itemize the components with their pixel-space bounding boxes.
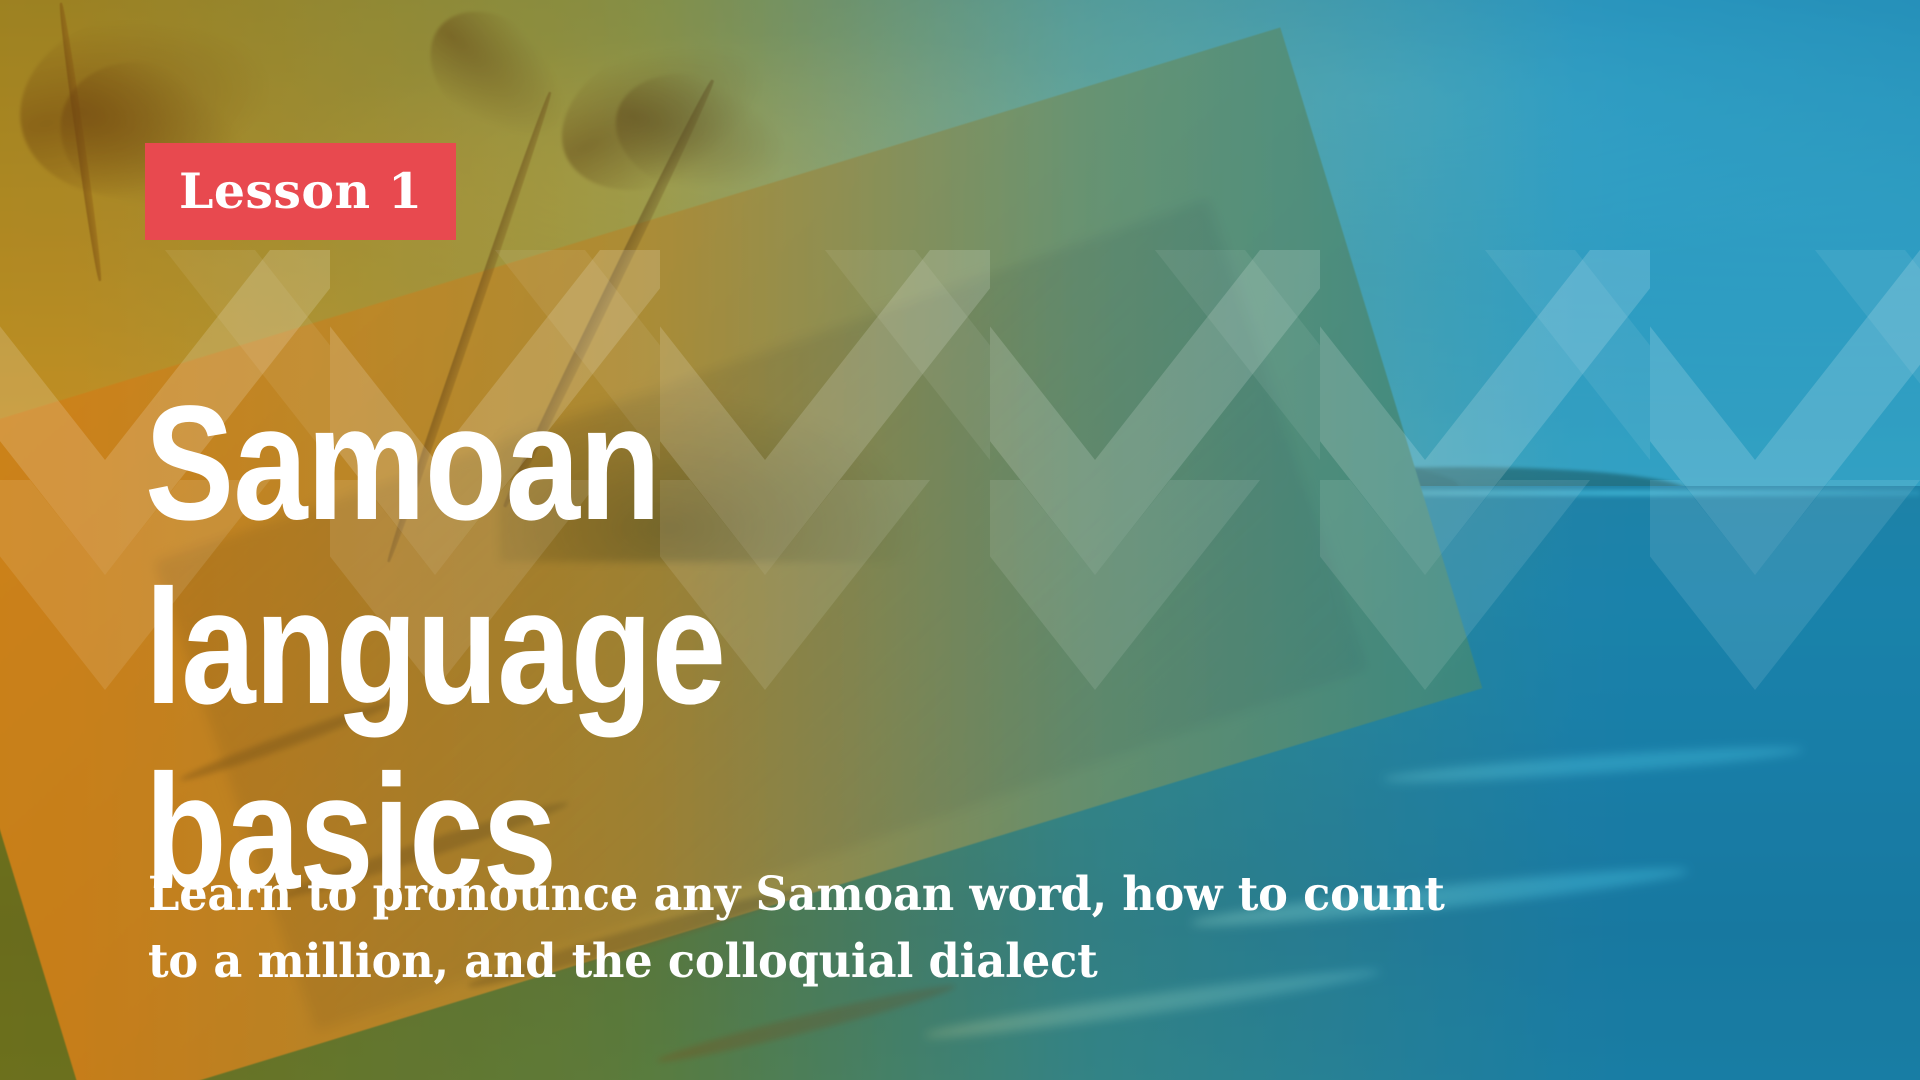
- page-title: Samoan language basics: [145, 371, 1244, 924]
- slide-content: Lesson 1 Samoan language basics Learn to…: [0, 0, 1920, 1080]
- lesson-title-slide: Lesson 1 Samoan language basics Learn to…: [0, 0, 1920, 1080]
- lesson-badge: Lesson 1: [145, 143, 456, 240]
- lesson-badge-label: Lesson 1: [179, 167, 422, 216]
- page-subtitle: Learn to pronounce any Samoan word, how …: [148, 862, 1706, 995]
